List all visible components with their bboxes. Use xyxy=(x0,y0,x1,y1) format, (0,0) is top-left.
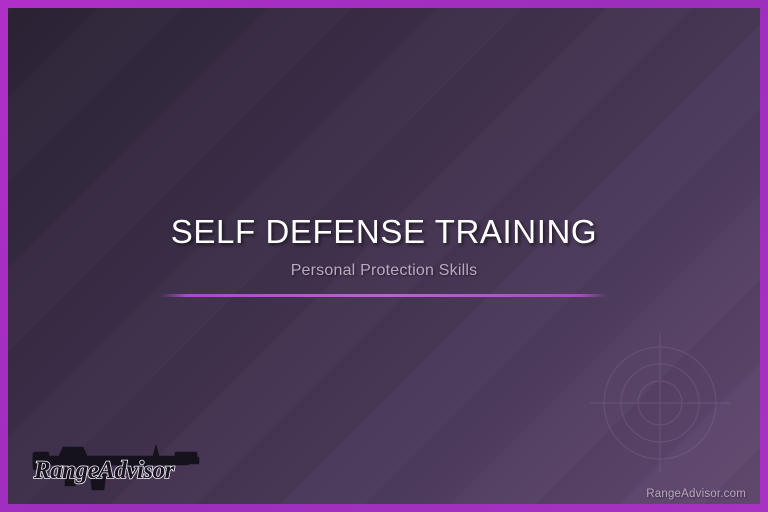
page-subtitle: Personal Protection Skills xyxy=(8,262,760,280)
brand-logo: RangeAdvisor xyxy=(25,428,205,500)
presentation-slide: SELF DEFENSE TRAINING Personal Protectio… xyxy=(0,0,768,512)
title-block: SELF DEFENSE TRAINING Personal Protectio… xyxy=(8,213,760,297)
title-divider xyxy=(160,294,608,297)
slide-canvas: SELF DEFENSE TRAINING Personal Protectio… xyxy=(8,8,760,504)
crosshair-target-icon xyxy=(582,325,738,481)
page-title: SELF DEFENSE TRAINING xyxy=(8,213,760,252)
brand-wordmark: RangeAdvisor xyxy=(33,457,175,484)
footer-site-url: RangeAdvisor.com xyxy=(646,488,746,500)
